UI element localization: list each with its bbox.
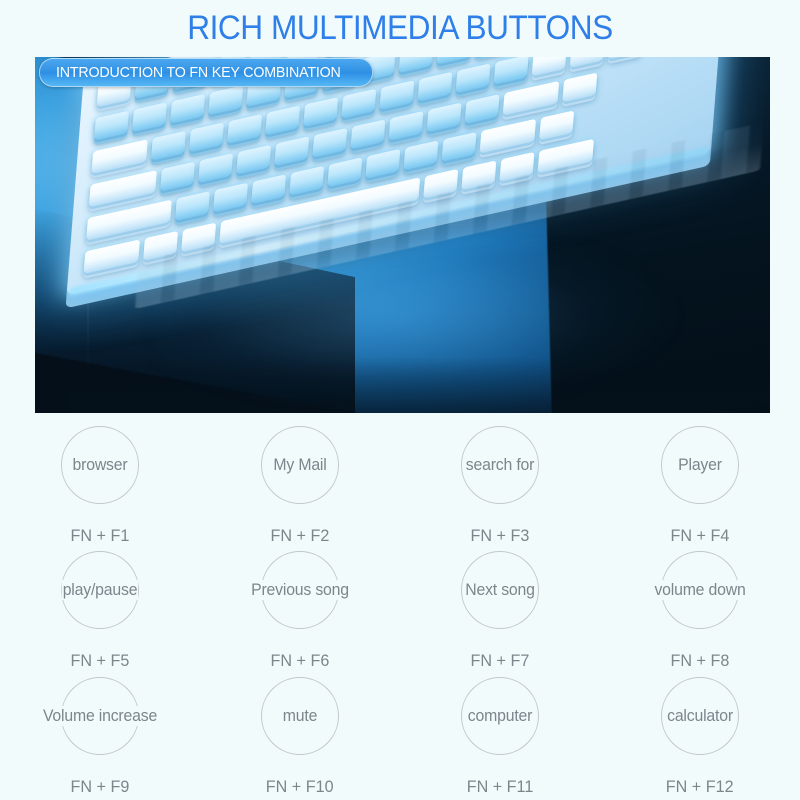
keycap [160, 162, 195, 194]
fn-key-label: Volume increase [42, 706, 158, 726]
keycap [274, 136, 309, 168]
keycap [151, 131, 186, 163]
keycap [403, 140, 438, 172]
fn-key-label: calculator [666, 706, 734, 726]
keycap [493, 57, 528, 87]
fn-key-combo: FN + F2 [271, 526, 330, 546]
fn-key-combo: FN + F9 [71, 777, 130, 797]
fn-key-label: Player [677, 455, 723, 475]
keycap [570, 57, 605, 70]
keycap [289, 166, 324, 198]
fn-key-label: play/pause [62, 580, 138, 600]
fn-key-circle: calculator [661, 677, 739, 755]
fn-key-combo: FN + F5 [71, 651, 130, 671]
fn-key-circle: Previous song [261, 551, 339, 629]
keycap-enter [503, 81, 560, 118]
keycap [532, 57, 567, 79]
keycap [303, 97, 338, 129]
keycap [437, 57, 472, 67]
fn-key-label: search for [465, 455, 535, 475]
keycap [170, 94, 205, 126]
keycap [441, 132, 476, 164]
fn-key-circle: Next song [461, 551, 539, 629]
product-photo [35, 57, 770, 413]
keycap [132, 102, 167, 134]
keycap [455, 63, 490, 95]
keycap [265, 106, 300, 138]
fn-key-circle: My Mail [261, 426, 339, 504]
keycap [464, 94, 499, 126]
keycap [379, 80, 414, 112]
keycap [94, 111, 129, 143]
keycap [350, 119, 385, 151]
fn-key-circle: volume down [661, 551, 739, 629]
fn-key-label: volume down [654, 580, 747, 600]
fn-key-label: mute [282, 706, 318, 726]
keycap [539, 110, 574, 142]
keycap [417, 72, 452, 104]
fn-key-item-f11[interactable]: computer FN + F11 [400, 675, 600, 800]
page-title: RICH MULTIMEDIA BUTTONS [28, 8, 772, 48]
fn-key-item-f4[interactable]: Player FN + F4 [600, 424, 800, 549]
fn-key-item-f6[interactable]: Previous song FN + F6 [200, 549, 400, 674]
fn-key-item-f8[interactable]: volume down FN + F8 [600, 549, 800, 674]
fn-key-circle: mute [261, 677, 339, 755]
fn-key-combo: FN + F12 [666, 777, 734, 797]
fn-key-label: browser [72, 455, 129, 475]
keycap [341, 89, 376, 121]
intro-banner-label: INTRODUCTION TO FN KEY COMBINATION [56, 64, 341, 81]
fn-key-combo: FN + F11 [467, 777, 534, 797]
keycap [251, 174, 286, 206]
keycap [327, 157, 362, 189]
keycap [198, 153, 233, 185]
fn-key-combo: FN + F6 [271, 651, 330, 671]
keycap [562, 72, 597, 104]
keycap-shift-right [479, 119, 536, 156]
keycap [426, 103, 461, 135]
fn-key-combo: FN + F8 [671, 651, 730, 671]
keycap [475, 57, 510, 59]
keycap [388, 111, 423, 143]
fn-key-label: Previous song [250, 580, 350, 600]
fn-key-circle: search for [461, 426, 539, 504]
fn-key-item-f10[interactable]: mute FN + F10 [200, 675, 400, 800]
fn-key-combo: FN + F7 [471, 651, 530, 671]
keycap-tab [91, 139, 148, 176]
keycap [312, 128, 347, 160]
fn-key-item-f2[interactable]: My Mail FN + F2 [200, 424, 400, 549]
keycap [236, 145, 271, 177]
fn-key-label: My Mail [272, 455, 327, 475]
keycap-ctrl [83, 239, 140, 276]
fn-key-item-f7[interactable]: Next song FN + F7 [400, 549, 600, 674]
fn-key-item-f1[interactable]: browser FN + F1 [0, 424, 200, 549]
fn-key-item-f9[interactable]: Volume increase FN + F9 [0, 675, 200, 800]
fn-key-combo: FN + F3 [471, 526, 530, 546]
fn-key-circle: play/pause [61, 551, 139, 629]
keycap [175, 191, 210, 223]
keycap [213, 183, 248, 215]
fn-key-label: computer [467, 706, 533, 726]
fn-key-item-f3[interactable]: search for FN + F3 [400, 424, 600, 549]
keycap-capslock [89, 170, 157, 210]
keycap [227, 114, 262, 146]
fn-key-circle: Volume increase [61, 677, 139, 755]
keycap [608, 57, 643, 62]
fn-key-combo: FN + F1 [71, 526, 130, 546]
fn-key-combo: FN + F4 [671, 526, 730, 546]
fn-key-circle: Player [661, 426, 739, 504]
keycap [208, 85, 243, 117]
fn-key-circle: computer [461, 677, 539, 755]
keycap [365, 149, 400, 181]
fn-key-grid: browser FN + F1 My Mail FN + F2 search f… [0, 424, 800, 800]
keycap [189, 122, 224, 154]
fn-key-combo: FN + F10 [266, 777, 334, 797]
keycap [398, 57, 433, 76]
fn-key-label: Next song [464, 580, 535, 600]
fn-key-circle: browser [61, 426, 139, 504]
fn-key-item-f5[interactable]: play/pause FN + F5 [0, 549, 200, 674]
intro-banner: INTRODUCTION TO FN KEY COMBINATION [39, 58, 373, 87]
fn-key-item-f12[interactable]: calculator FN + F12 [600, 675, 800, 800]
